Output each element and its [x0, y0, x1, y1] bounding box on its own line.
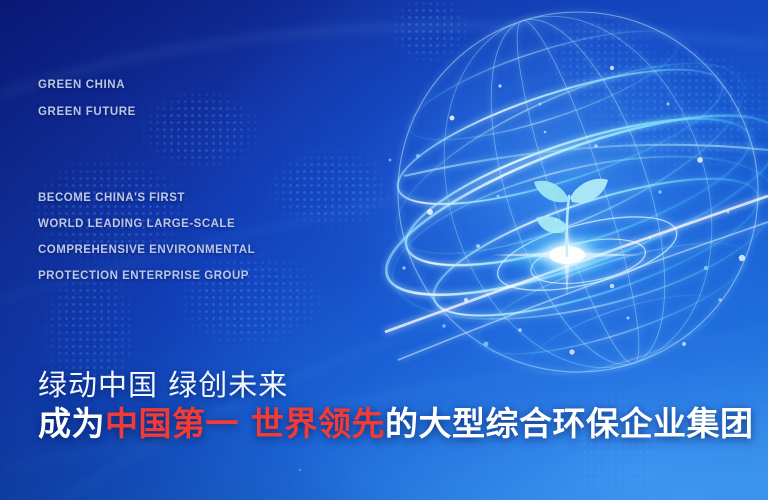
chinese-headline: 绿动中国 绿创未来 成为中国第一 世界领先的大型综合环保企业集团 — [38, 367, 754, 445]
hero-banner: GREEN CHINA GREEN FUTURE BECOME CHINA'S … — [0, 0, 768, 500]
headline-highlight: 中国第一 世界领先 — [105, 404, 385, 443]
mission-line-2: WORLD LEADING LARGE-SCALE — [38, 211, 255, 237]
english-tagline-top: GREEN CHINA GREEN FUTURE — [38, 72, 136, 126]
tagline-line-1: GREEN CHINA — [38, 72, 136, 99]
mission-line-1: BECOME CHINA'S FIRST — [38, 185, 255, 211]
headline-suffix: 的大型综合环保企业集团 — [385, 404, 754, 443]
mission-line-3: COMPREHENSIVE ENVIRONMENTAL — [38, 237, 255, 263]
mission-line-4: PROTECTION ENTERPRISE GROUP — [38, 263, 255, 289]
headline-prefix: 成为 — [38, 404, 105, 443]
english-mission-statement: BECOME CHINA'S FIRST WORLD LEADING LARGE… — [38, 185, 255, 289]
headline-line-2: 成为中国第一 世界领先的大型综合环保企业集团 — [38, 403, 754, 445]
tagline-line-2: GREEN FUTURE — [38, 99, 136, 126]
headline-line-1: 绿动中国 绿创未来 — [38, 367, 754, 403]
